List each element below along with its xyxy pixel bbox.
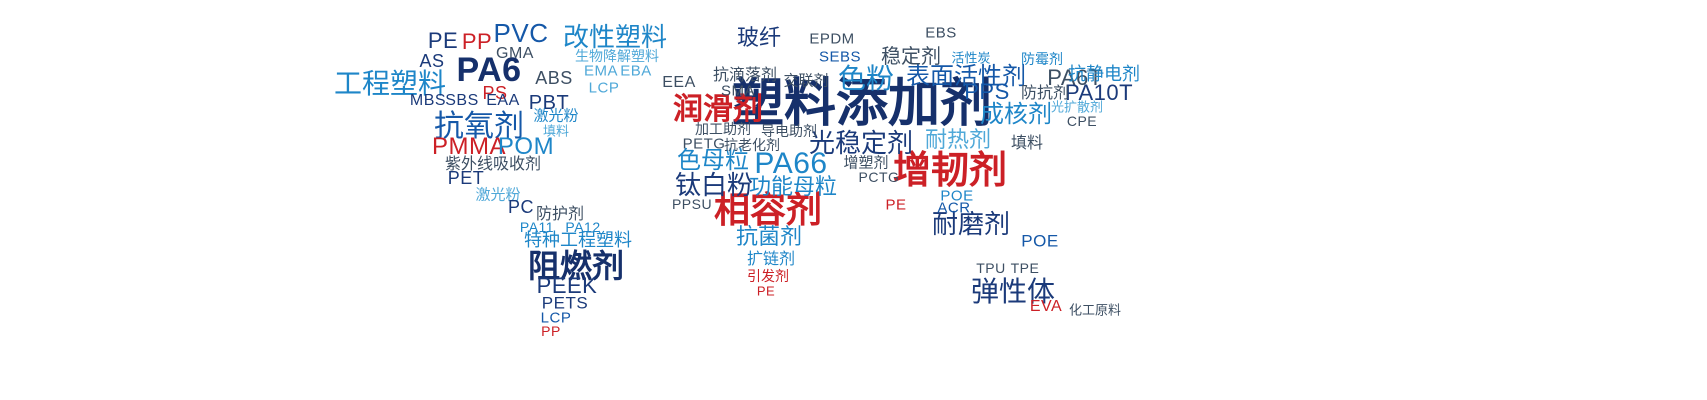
word-cloud-term[interactable]: LCP bbox=[589, 81, 620, 96]
word-cloud-term[interactable]: 增塑剂 bbox=[843, 156, 888, 171]
word-cloud-term[interactable]: 生物降解塑料 bbox=[575, 50, 659, 64]
word-cloud-term[interactable]: PP bbox=[462, 31, 492, 53]
word-cloud-term[interactable]: 改性塑料 bbox=[563, 25, 667, 51]
word-cloud-term[interactable]: EBS bbox=[925, 26, 957, 41]
word-cloud-term[interactable]: PE bbox=[885, 198, 906, 213]
word-cloud-term[interactable]: 引发剂 bbox=[747, 270, 789, 284]
word-cloud-term[interactable]: CPE bbox=[1067, 114, 1097, 128]
word-cloud-term[interactable]: 防霉剂 bbox=[1021, 53, 1063, 67]
word-cloud-term[interactable]: TPU bbox=[976, 261, 1006, 275]
word-cloud-term[interactable]: 交联剂 bbox=[783, 74, 828, 89]
word-cloud-term[interactable]: 抗菌剂 bbox=[736, 227, 802, 249]
word-cloud-term[interactable]: EMA bbox=[584, 64, 618, 79]
word-cloud-term[interactable]: POE bbox=[1021, 233, 1058, 250]
word-cloud-term[interactable]: 导电助剂 bbox=[761, 125, 817, 139]
word-cloud-term[interactable]: 活性炭 bbox=[951, 53, 990, 66]
word-cloud-term[interactable]: 填料 bbox=[1011, 135, 1043, 151]
word-cloud-term[interactable]: 耐热剂 bbox=[925, 130, 991, 152]
word-cloud-term[interactable]: SBS bbox=[445, 93, 479, 109]
word-cloud-term[interactable]: SMA bbox=[721, 84, 755, 99]
word-cloud-term[interactable]: PP bbox=[541, 324, 561, 338]
word-cloud-term[interactable]: MBS bbox=[410, 93, 446, 109]
word-cloud-term[interactable]: PA12 bbox=[565, 220, 600, 234]
word-cloud-term[interactable]: 填料 bbox=[543, 126, 569, 139]
word-cloud-term[interactable]: EPDM bbox=[809, 32, 854, 47]
word-cloud-term[interactable]: 扩链剂 bbox=[747, 251, 795, 267]
word-cloud-term[interactable]: PE bbox=[757, 285, 775, 298]
word-cloud-term[interactable]: GMA bbox=[496, 46, 534, 62]
word-cloud-term[interactable]: PCTG bbox=[859, 170, 900, 184]
word-cloud-term[interactable]: AS bbox=[419, 52, 444, 70]
word-cloud-canvas: 塑料添加剂增韧剂相容剂阻燃剂润滑剂工程塑料抗氧剂光稳定剂表面活性剂PA6PA66… bbox=[0, 0, 1707, 400]
word-cloud-term[interactable]: 功能母粒 bbox=[749, 177, 837, 199]
word-cloud-term[interactable]: TPE bbox=[1011, 261, 1040, 275]
word-cloud-term[interactable]: 防抗剂 bbox=[1021, 85, 1069, 101]
word-cloud-term[interactable]: PE bbox=[428, 30, 458, 52]
word-cloud-term[interactable]: EVA bbox=[1030, 299, 1062, 315]
word-cloud-term[interactable]: EAA bbox=[486, 93, 520, 109]
word-cloud-term[interactable]: 化工原料 bbox=[1069, 305, 1121, 318]
word-cloud-term[interactable]: ABS bbox=[535, 69, 573, 87]
word-cloud-term[interactable]: 抗滴落剂 bbox=[713, 67, 777, 83]
word-cloud-term[interactable]: PPS bbox=[964, 81, 1010, 103]
word-cloud-term[interactable]: 稳定剂 bbox=[881, 46, 941, 66]
word-cloud-term[interactable]: PETG bbox=[683, 137, 726, 152]
word-cloud-term[interactable]: 激光粉 bbox=[533, 109, 578, 124]
word-cloud-term[interactable]: 润滑剂 bbox=[673, 95, 763, 125]
word-cloud-term[interactable]: 色粉 bbox=[838, 65, 894, 93]
word-cloud-term[interactable]: 玻纤 bbox=[737, 28, 781, 50]
word-cloud-term[interactable]: PVC bbox=[494, 20, 549, 46]
word-cloud-term[interactable]: EBA bbox=[620, 64, 652, 79]
word-cloud-term[interactable]: ACR bbox=[937, 201, 970, 216]
word-cloud-term[interactable]: PET bbox=[448, 169, 485, 187]
word-cloud-term[interactable]: 抗老化剂 bbox=[724, 139, 780, 153]
word-cloud-term[interactable]: PA11 bbox=[520, 220, 554, 234]
word-cloud-term[interactable]: PPSU bbox=[672, 197, 712, 211]
word-cloud-term[interactable]: PC bbox=[508, 198, 534, 216]
word-cloud-term[interactable]: SEBS bbox=[819, 50, 861, 65]
word-cloud-term[interactable]: 成核剂 bbox=[980, 102, 1052, 126]
word-cloud-term[interactable]: 抗静电剂 bbox=[1068, 66, 1140, 84]
word-cloud-term[interactable]: EEA bbox=[662, 75, 696, 91]
